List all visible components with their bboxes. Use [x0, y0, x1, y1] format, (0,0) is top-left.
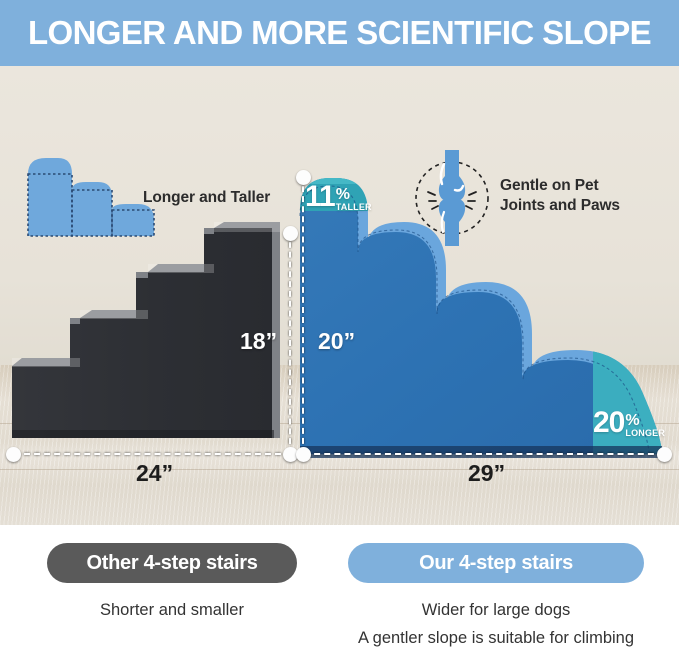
comparison-summary: Other 4-step stairs Our 4-step stairs Sh… [0, 525, 679, 657]
dimension-dot-our-right [657, 447, 672, 462]
dimension-other-width: 24” [136, 460, 173, 487]
dimension-line-other-height [289, 232, 291, 454]
header-banner: LONGER AND MORE SCIENTIFIC SLOPE [0, 0, 679, 66]
dimension-line-our-height [302, 176, 304, 454]
pill-other-label: Other 4-step stairs [86, 552, 257, 575]
dimension-other-height: 18” [240, 328, 277, 355]
badge-taller-sign: % [336, 187, 350, 202]
badge-longer-word: LONGER [625, 428, 665, 438]
dimension-our-height: 20” [318, 328, 355, 355]
pill-our-label: Our 4-step stairs [419, 552, 573, 575]
page-title: LONGER AND MORE SCIENTIFIC SLOPE [28, 14, 651, 52]
dimension-dot-other-left [6, 447, 21, 462]
caption-our-2: A gentler slope is suitable for climbing [318, 623, 674, 653]
dimension-line-other-width [14, 453, 291, 455]
badge-taller-number: 11 [305, 182, 335, 212]
caption-our-1: Wider for large dogs [348, 595, 644, 625]
badge-longer: 20 % LONGER [593, 408, 665, 438]
badge-taller-word: TALLER [336, 202, 372, 212]
pill-other-stairs: Other 4-step stairs [47, 543, 297, 583]
badge-longer-number: 20 [593, 408, 624, 438]
dimension-dot-our-left [296, 447, 311, 462]
dimension-line-our-width [304, 453, 664, 455]
product-comparison-scene: Longer and Taller Gentle on Pet Joints a… [0, 66, 679, 525]
badge-taller: 11 % TALLER [305, 182, 372, 212]
dimension-dot-other-top [283, 226, 298, 241]
feature-label-longer-taller: Longer and Taller [143, 188, 270, 207]
pill-our-stairs: Our 4-step stairs [348, 543, 644, 583]
dimension-dot-our-top [296, 170, 311, 185]
dimension-our-width: 29” [468, 460, 505, 487]
caption-other-1: Shorter and smaller [47, 595, 297, 625]
badge-longer-sign: % [625, 413, 639, 428]
